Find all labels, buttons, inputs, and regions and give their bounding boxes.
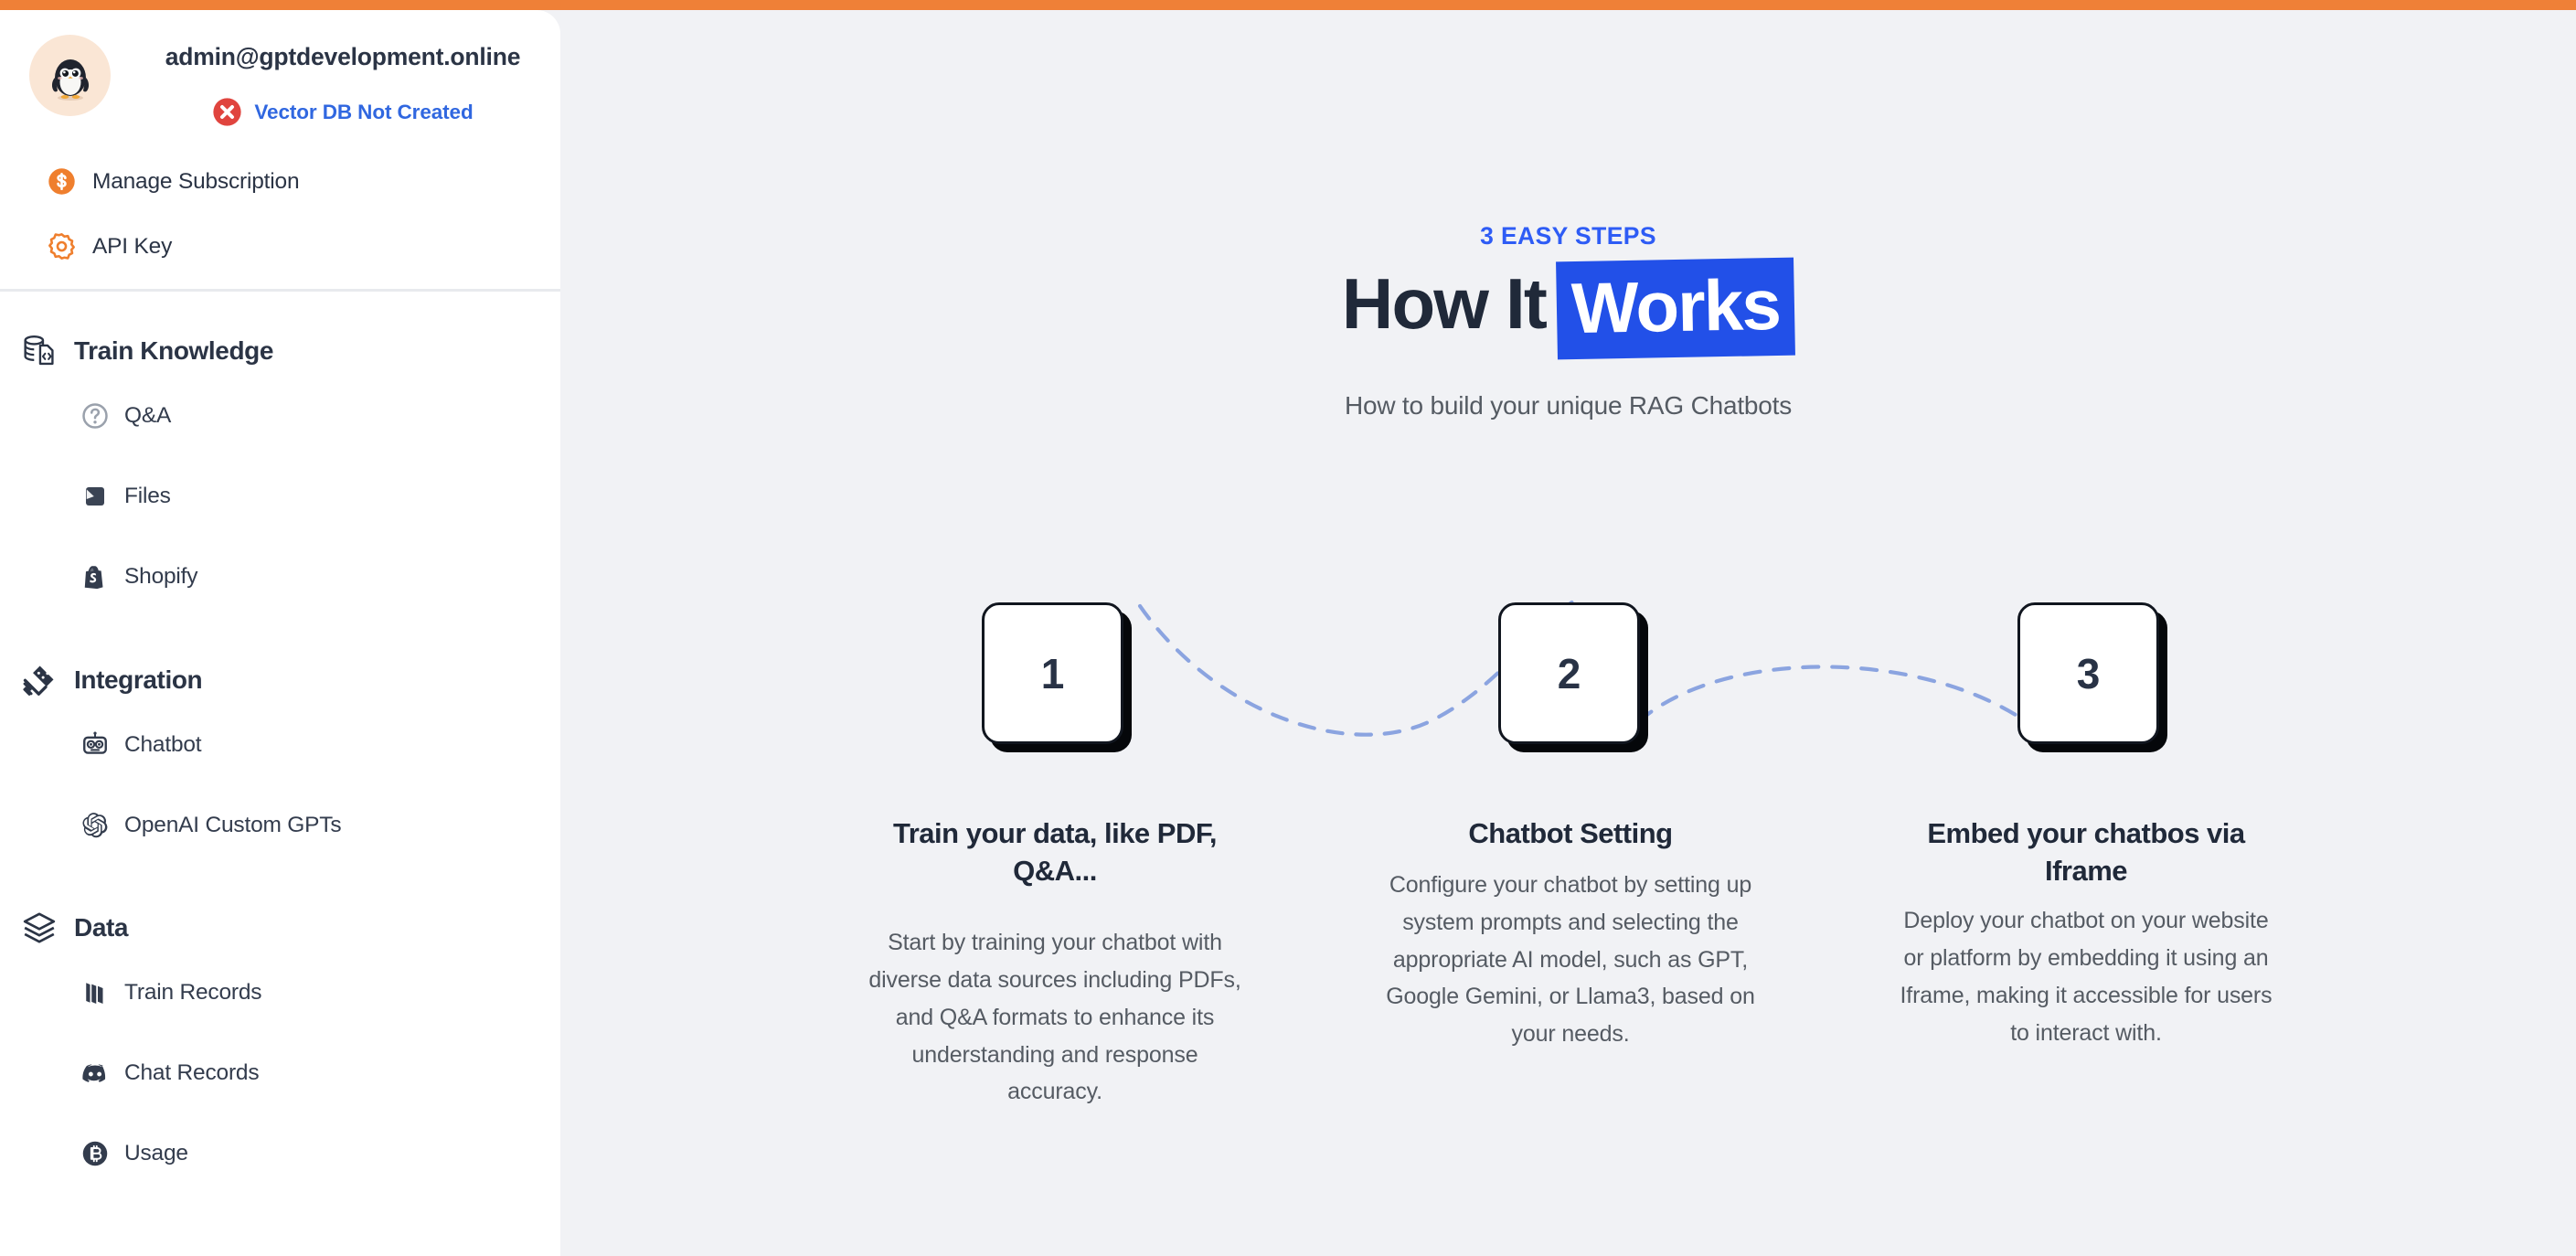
step-heading-3: Embed your chatbos via Iframe xyxy=(1894,814,2278,889)
files-icon xyxy=(81,483,109,510)
sidebar: admin@gptdevelopment.online Vector DB No… xyxy=(0,10,560,1256)
step-body-2: Configure your chatbot by setting up sys… xyxy=(1378,867,1762,1053)
database-code-icon xyxy=(22,334,57,368)
api-key-label: API Key xyxy=(92,234,172,260)
main-content: 3 EASY STEPS How ItWorks How to build yo… xyxy=(560,10,2576,1256)
group-header-data: Data xyxy=(0,903,560,953)
gear-icon xyxy=(48,232,76,261)
penguin-avatar-icon xyxy=(42,48,99,104)
page-title-highlight: Works xyxy=(1556,258,1795,360)
robot-chatbot-icon xyxy=(81,731,109,759)
error-circle-x-icon xyxy=(212,97,242,127)
group-header-integration: Integration xyxy=(0,655,560,705)
sidebar-item-label-usage: Usage xyxy=(124,1141,188,1166)
group-header-train-knowledge: Train Knowledge xyxy=(0,326,560,376)
vector-db-status-label: Vector DB Not Created xyxy=(254,101,473,124)
nav-group-data: Data Train Records Chat Records Usa xyxy=(0,903,560,1194)
sidebar-item-chatbot[interactable]: Chatbot xyxy=(0,705,560,785)
sidebar-item-usage[interactable]: Usage xyxy=(0,1113,560,1194)
sidebar-item-label-chat-records: Chat Records xyxy=(124,1060,259,1086)
top-accent-bar xyxy=(0,0,2576,10)
group-title-data: Data xyxy=(74,913,128,942)
sidebar-item-files[interactable]: Files xyxy=(0,456,560,537)
sidebar-item-label-train-records: Train Records xyxy=(124,980,261,1006)
shopify-bag-icon xyxy=(81,563,109,591)
group-title-integration: Integration xyxy=(74,665,202,695)
sidebar-item-label-files: Files xyxy=(124,484,171,509)
sidebar-item-chat-records[interactable]: Chat Records xyxy=(0,1033,560,1113)
train-records-icon xyxy=(81,979,109,1006)
step-heading-2: Chatbot Setting xyxy=(1378,814,1762,852)
page-subtitle: How to build your unique RAG Chatbots xyxy=(560,391,2576,420)
nav-group-train-knowledge: Train Knowledge Q&A Files xyxy=(0,326,560,617)
openai-logo-icon xyxy=(81,812,109,839)
account-divider xyxy=(0,289,560,292)
manage-subscription-link[interactable]: Manage Subscription xyxy=(48,167,523,196)
group-title-train-knowledge: Train Knowledge xyxy=(74,336,273,366)
discord-chat-icon xyxy=(81,1059,109,1087)
nav-group-integration: Integration Chatbot OpenAI Custom GPTs xyxy=(0,655,560,866)
avatar[interactable] xyxy=(29,35,111,116)
step-text-2: Chatbot Setting Configure your chatbot b… xyxy=(1378,814,1762,1053)
step-body-1: Start by training your chatbot with dive… xyxy=(863,924,1247,1111)
eyebrow-label: 3 EASY STEPS xyxy=(560,222,2576,250)
page-title: How ItWorks xyxy=(560,257,2576,355)
sidebar-item-label-shopify: Shopify xyxy=(124,564,197,590)
integration-plug-icon xyxy=(22,663,57,697)
connector-2-3 xyxy=(1639,666,2023,721)
step-text-3: Embed your chatbos via Iframe Deploy you… xyxy=(1894,814,2278,1051)
vector-db-status[interactable]: Vector DB Not Created xyxy=(142,97,544,127)
sidebar-item-train-records[interactable]: Train Records xyxy=(0,953,560,1033)
step-heading-1: Train your data, like PDF, Q&A... xyxy=(863,814,1247,889)
sidebar-item-qa[interactable]: Q&A xyxy=(0,376,560,456)
step-box-2: 2 xyxy=(1498,602,1640,744)
step-text-1: Train your data, like PDF, Q&A... Start … xyxy=(863,814,1247,1111)
question-circle-icon xyxy=(81,402,109,430)
sidebar-item-label-qa: Q&A xyxy=(124,403,171,429)
bitcoin-usage-icon xyxy=(81,1140,109,1167)
api-key-link[interactable]: API Key xyxy=(48,232,523,261)
account-block: admin@gptdevelopment.online Vector DB No… xyxy=(0,10,560,289)
dollar-circle-icon xyxy=(48,167,76,196)
sidebar-item-label-chatbot: Chatbot xyxy=(124,732,201,758)
step-box-1: 1 xyxy=(982,602,1123,744)
step-box-3: 3 xyxy=(2017,602,2159,744)
sidebar-item-openai-custom-gpts[interactable]: OpenAI Custom GPTs xyxy=(0,785,560,866)
manage-subscription-label: Manage Subscription xyxy=(92,169,299,195)
step-body-3: Deploy your chatbot on your website or p… xyxy=(1894,902,2278,1051)
page-title-plain: How It xyxy=(1342,263,1546,344)
account-email: admin@gptdevelopment.online xyxy=(142,43,544,71)
sidebar-item-label-openai-custom-gpts: OpenAI Custom GPTs xyxy=(124,813,341,838)
layers-stack-icon xyxy=(22,910,57,945)
sidebar-item-shopify[interactable]: Shopify xyxy=(0,537,560,617)
